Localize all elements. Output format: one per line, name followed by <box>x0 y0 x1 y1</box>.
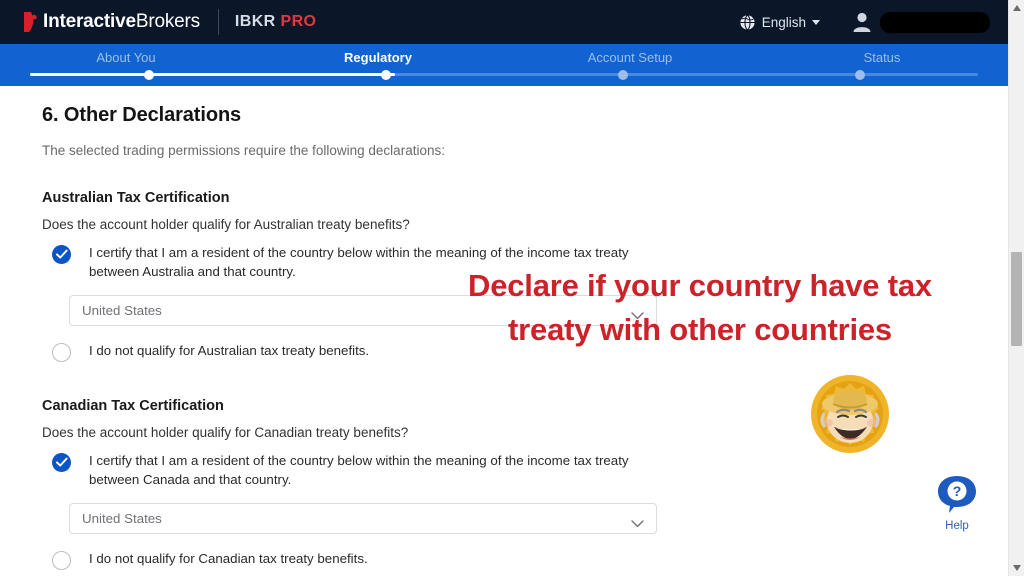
chevron-down-icon <box>631 307 644 325</box>
step-dot-account-setup[interactable] <box>618 70 628 80</box>
user-account-menu[interactable] <box>852 11 990 33</box>
top-bar-right-group: English <box>739 11 990 33</box>
canadian-certify-radio-checked[interactable] <box>52 453 71 472</box>
brand-divider <box>218 9 219 35</box>
page-subtitle: The selected trading permissions require… <box>42 143 1008 158</box>
chevron-down-icon <box>631 515 644 533</box>
australian-certify-label: I certify that I am a resident of the co… <box>89 244 649 281</box>
help-label: Help <box>932 520 982 532</box>
top-navigation-bar: InteractiveBrokers IBKR PRO English <box>0 0 1008 44</box>
username-redacted-bar <box>880 12 990 33</box>
australian-decline-radio-empty[interactable] <box>52 343 71 362</box>
language-selector[interactable]: English <box>739 14 820 31</box>
australian-decline-option[interactable]: I do not qualify for Australian tax trea… <box>42 342 1008 362</box>
step-regulatory[interactable]: Regulatory <box>252 44 504 70</box>
australian-country-value: United States <box>82 296 162 325</box>
australian-decline-label: I do not qualify for Australian tax trea… <box>89 342 369 361</box>
product-badge-pro: PRO <box>281 13 317 30</box>
globe-icon <box>739 14 762 31</box>
scroll-down-arrow-icon[interactable] <box>1009 560 1024 576</box>
canadian-certify-option[interactable]: I certify that I am a resident of the co… <box>42 452 1008 489</box>
onboarding-progress-bar: About You Regulatory Account Setup Statu… <box>0 44 1008 86</box>
step-about-you[interactable]: About You <box>0 44 252 70</box>
brand-logo[interactable]: InteractiveBrokers IBKR PRO <box>22 9 316 35</box>
canadian-decline-option[interactable]: I do not qualify for Canadian tax treaty… <box>42 550 1008 570</box>
step-status[interactable]: Status <box>756 44 1008 70</box>
main-content-area: 6. Other Declarations The selected tradi… <box>0 86 1008 576</box>
user-avatar-icon <box>852 11 872 33</box>
canadian-certify-label: I certify that I am a resident of the co… <box>89 452 649 489</box>
scrollbar-thumb[interactable] <box>1011 252 1022 346</box>
australian-country-select[interactable]: United States <box>69 295 657 326</box>
language-label: English <box>762 15 806 30</box>
step-dot-about-you[interactable] <box>144 70 154 80</box>
step-label-row: About You Regulatory Account Setup Statu… <box>0 44 1008 70</box>
product-badge: IBKR PRO <box>235 13 316 31</box>
australian-tax-certification-section: Australian Tax Certification Does the ac… <box>42 190 1008 362</box>
ibkr-flame-logo-icon <box>22 10 39 34</box>
brand-name: InteractiveBrokers <box>43 11 200 33</box>
question-mark-chat-bubble-icon: ? <box>936 501 978 518</box>
step-account-setup[interactable]: Account Setup <box>504 44 756 70</box>
vertical-scrollbar[interactable] <box>1008 0 1024 576</box>
step-dot-regulatory[interactable] <box>381 70 391 80</box>
australian-certify-option[interactable]: I certify that I am a resident of the co… <box>42 244 1008 281</box>
canadian-decline-label: I do not qualify for Canadian tax treaty… <box>89 550 368 569</box>
canadian-country-select[interactable]: United States <box>69 503 657 534</box>
page-title: 6. Other Declarations <box>42 104 1008 127</box>
australian-certify-radio-checked[interactable] <box>52 245 71 264</box>
canadian-country-value: United States <box>82 504 162 533</box>
canadian-decline-radio-empty[interactable] <box>52 551 71 570</box>
page-root: InteractiveBrokers IBKR PRO English <box>0 0 1024 576</box>
svg-text:?: ? <box>953 483 962 499</box>
progress-track <box>30 73 978 76</box>
laughing-man-straw-hat-avatar-icon <box>810 374 890 454</box>
product-badge-ibkr: IBKR <box>235 13 276 30</box>
help-button[interactable]: ? Help <box>932 474 982 532</box>
brand-name-light: Brokers <box>136 11 200 32</box>
progress-track-fill <box>30 73 395 76</box>
brand-name-bold: Interactive <box>43 11 136 32</box>
step-dot-status[interactable] <box>855 70 865 80</box>
chevron-down-icon <box>812 20 820 25</box>
australian-question: Does the account holder qualify for Aust… <box>42 217 1008 232</box>
scroll-up-arrow-icon[interactable] <box>1009 0 1024 16</box>
australian-section-title: Australian Tax Certification <box>42 190 1008 206</box>
